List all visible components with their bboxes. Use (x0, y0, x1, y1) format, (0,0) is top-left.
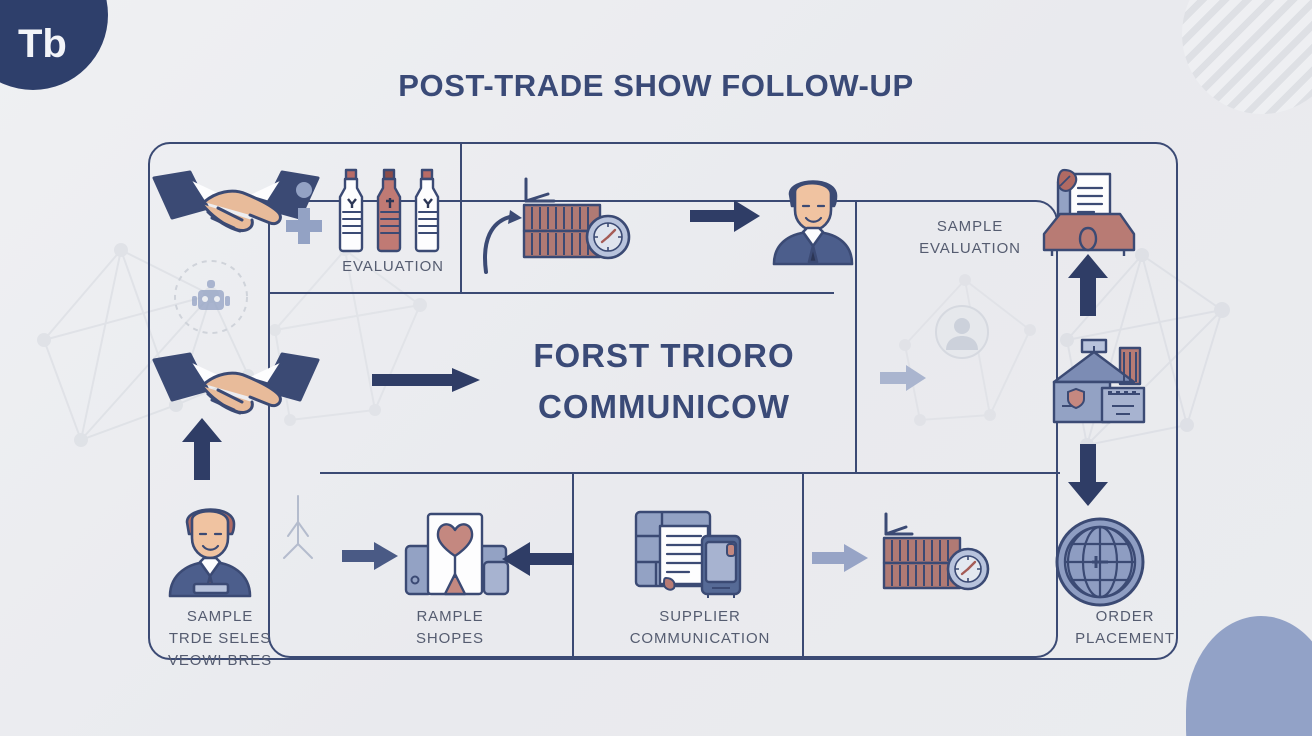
supplier-documents-icon (634, 508, 746, 600)
divider-horizontal-upper-left (270, 292, 480, 294)
label-rample-shopes: RAMPLE SHOPES (375, 606, 525, 650)
sample-bottles-icon (336, 168, 454, 254)
divider-vertical-bottom-right (802, 474, 804, 660)
arrow-right-mid (372, 366, 482, 394)
robot-badge-icon (172, 258, 250, 336)
arrow-left-bottom (502, 540, 574, 578)
arrow-curve-top-icon (466, 210, 526, 290)
label-evaluation: EVALUATION (300, 256, 486, 278)
centre-headline: FORST TRIORO COMMUNICOW (478, 330, 850, 432)
arrow-up-left (182, 418, 222, 480)
sample-shapes-icon (404, 508, 510, 600)
divider-horizontal-upper-right (478, 292, 834, 294)
handshake-mid-icon (146, 350, 326, 430)
label-sample-evaluation: SAMPLE EVALUATION (880, 216, 1060, 260)
shipping-container-clock-icon-2 (880, 512, 998, 598)
arrow-right-bottom-1 (342, 540, 400, 572)
label-supplier-communication: SUPPLIER COMMUNICATION (600, 606, 800, 650)
label-order-placement: ORDER PLACEMENT (1040, 606, 1210, 650)
secondary-badge-icon (930, 300, 994, 364)
brand-logo-text: Tb (18, 24, 67, 64)
label-sample-trade-show: SAMPLE TRDE SELES VEOWI BRES (130, 606, 310, 671)
plus-icon (280, 178, 328, 250)
divider-horizontal-bottom (320, 472, 1060, 474)
decorative-spark-icon (278, 492, 326, 568)
globe-icon (1052, 514, 1148, 610)
diagram-canvas: Tb (0, 0, 1312, 736)
businessman-avatar-icon (770, 170, 856, 266)
shipping-container-clock-icon (520, 175, 640, 267)
arrow-right-faint-mid (880, 364, 928, 392)
factory-building-icon (1046, 336, 1150, 428)
arrow-right-bottom-2 (812, 542, 870, 574)
sales-person-icon (166, 498, 256, 598)
arrow-up-right (1068, 254, 1108, 316)
page-title: POST-TRADE SHOW FOLLOW-UP (0, 68, 1312, 104)
arrow-down-right (1068, 444, 1108, 506)
arrow-right-top (690, 198, 762, 234)
